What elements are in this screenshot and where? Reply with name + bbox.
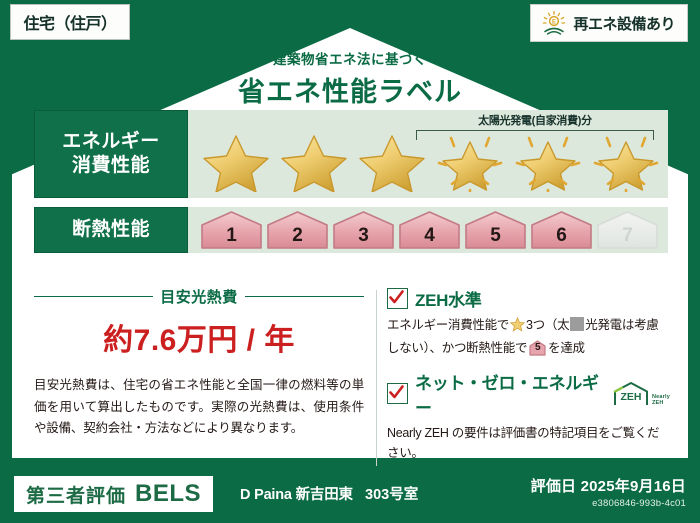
- insulation-level-6: 6: [530, 211, 593, 249]
- heading-rule-right: [245, 296, 364, 297]
- zeh-logo: ZEH Nearly ZEH: [612, 381, 670, 407]
- insulation-level-1: 1: [200, 211, 263, 249]
- star-solar: [510, 130, 586, 192]
- insulation-level-number: 6: [530, 225, 593, 247]
- footer: 第三者評価 BELS D Paina 新吉田東 303号室 評価日 2025年9…: [0, 466, 700, 523]
- star-solar: [588, 130, 664, 192]
- zeh-logo-sub2: ZEH: [652, 400, 664, 406]
- inline-house-level: 5: [529, 340, 546, 356]
- lower-section: 目安光熱費 約7.6万円 / 年 目安光熱費は、住宅の省エネ性能と全国一律の燃料…: [34, 286, 670, 473]
- svg-text:E: E: [552, 20, 556, 26]
- frame-edge-right: [688, 0, 700, 523]
- utility-cost-value: 約7.6万円 / 年: [34, 315, 364, 359]
- heading-rule-left: [34, 296, 153, 297]
- utility-cost-heading: 目安光熱費: [34, 286, 364, 307]
- bels-en-label: BELS: [135, 480, 201, 508]
- vertical-divider: [376, 290, 377, 469]
- insulation-label: 断熱性能: [72, 218, 150, 242]
- net-zero-energy-item: ネット・ゼロ・エネルギー ZEH Nearly ZEH: [387, 369, 670, 464]
- title-subtitle: 建築物省エネ法に基づく: [12, 48, 688, 68]
- net-zero-energy-title: ネット・ゼロ・エネルギー: [415, 369, 601, 419]
- net-zero-energy-description: Nearly ZEH の要件は評価書の特記項目をご覧ください。: [387, 423, 670, 464]
- panel-content: 建築物省エネ法に基づく 省エネ性能ラベル エネルギー 消費性能 太陽光発電(自家…: [12, 28, 688, 458]
- star-filled: [354, 130, 430, 192]
- zeh-standard-description: エネルギー消費性能で3つ（太光発電は考慮しない）、かつ断熱性能で5を達成: [387, 315, 670, 359]
- bels-jp-label: 第三者評価: [26, 481, 126, 508]
- zeh-logo-sub: Nearly ZEH: [652, 395, 670, 407]
- zeh-standard-title: ZEH水準: [415, 286, 482, 311]
- redaction-box: [570, 317, 584, 331]
- insulation-level-number: 7: [596, 225, 659, 247]
- rating-rows: エネルギー 消費性能 太陽光発電(自家消費)分: [34, 110, 668, 262]
- net-zero-energy-heading: ネット・ゼロ・エネルギー ZEH Nearly ZEH: [387, 369, 670, 419]
- evaluation-date: 評価日 2025年9月16日: [531, 475, 686, 496]
- insulation-level-number: 2: [266, 225, 329, 247]
- inline-house-icon: 5: [529, 340, 546, 356]
- star-filled: [198, 130, 274, 192]
- frame-edge-left: [0, 0, 12, 523]
- insulation-level-scale: 1 2 3: [188, 211, 659, 249]
- insulation-level-2: 2: [266, 211, 329, 249]
- room-number: 303号室: [365, 483, 418, 504]
- star-filled: [276, 130, 352, 192]
- energy-label-line1: エネルギー: [62, 130, 160, 154]
- insulation-level-number: 5: [464, 225, 527, 247]
- energy-performance-row: エネルギー 消費性能 太陽光発電(自家消費)分: [34, 110, 668, 198]
- evaluation-info: 評価日 2025年9月16日 e3806846-993b-4c01: [531, 475, 686, 509]
- insulation-level-number: 3: [332, 225, 395, 247]
- insulation-level-4: 4: [398, 211, 461, 249]
- zeh-desc-starcount: 3つ（太: [526, 318, 569, 332]
- zeh-section: ZEH水準 エネルギー消費性能で3つ（太光発電は考慮しない）、かつ断熱性能で5を…: [387, 286, 670, 473]
- energy-rating-body: 太陽光発電(自家消費)分: [188, 110, 668, 198]
- svg-text:ZEH: ZEH: [620, 391, 641, 403]
- solar-annotation-label: 太陽光発電(自家消費)分: [410, 112, 660, 128]
- check-icon: [387, 288, 408, 309]
- check-icon: [387, 383, 408, 404]
- insulation-level-number: 4: [398, 225, 461, 247]
- insulation-level-number: 1: [200, 225, 263, 247]
- utility-cost-section: 目安光熱費 約7.6万円 / 年 目安光熱費は、住宅の省エネ性能と全国一律の燃料…: [34, 286, 376, 473]
- zeh-desc-part1: エネルギー消費性能で: [387, 318, 509, 332]
- label-title: 建築物省エネ法に基づく 省エネ性能ラベル: [12, 48, 688, 109]
- utility-cost-heading-label: 目安光熱費: [160, 286, 238, 307]
- insulation-level-5: 5: [464, 211, 527, 249]
- utility-cost-description: 目安光熱費は、住宅の省エネ性能と全国一律の燃料等の単価を用いて算出したものです。…: [34, 375, 364, 440]
- star-rating: [188, 130, 664, 192]
- star-solar: [432, 130, 508, 192]
- bels-badge: 第三者評価 BELS: [14, 476, 213, 512]
- insulation-performance-row: 断熱性能: [34, 207, 668, 253]
- title-main: 省エネ性能ラベル: [12, 70, 688, 109]
- building-name: D Paina 新吉田東: [240, 483, 353, 504]
- insulation-rating-body: 1 2 3: [188, 207, 668, 253]
- zeh-standard-heading: ZEH水準: [387, 286, 670, 311]
- energy-performance-label-box: エネルギー 消費性能: [34, 110, 188, 198]
- insulation-level-7: 7: [596, 211, 659, 249]
- insulation-level-3: 3: [332, 211, 395, 249]
- energy-performance-label: 住宅（住戸） E 再エネ設備あり: [0, 0, 700, 523]
- inline-star-icon: [510, 317, 525, 338]
- zeh-desc-part3: を達成: [548, 341, 585, 355]
- insulation-performance-label-box: 断熱性能: [34, 207, 188, 253]
- evaluation-id: e3806846-993b-4c01: [531, 498, 686, 509]
- zeh-standard-item: ZEH水準 エネルギー消費性能で3つ（太光発電は考慮しない）、かつ断熱性能で5を…: [387, 286, 670, 359]
- energy-label-line2: 消費性能: [72, 154, 150, 178]
